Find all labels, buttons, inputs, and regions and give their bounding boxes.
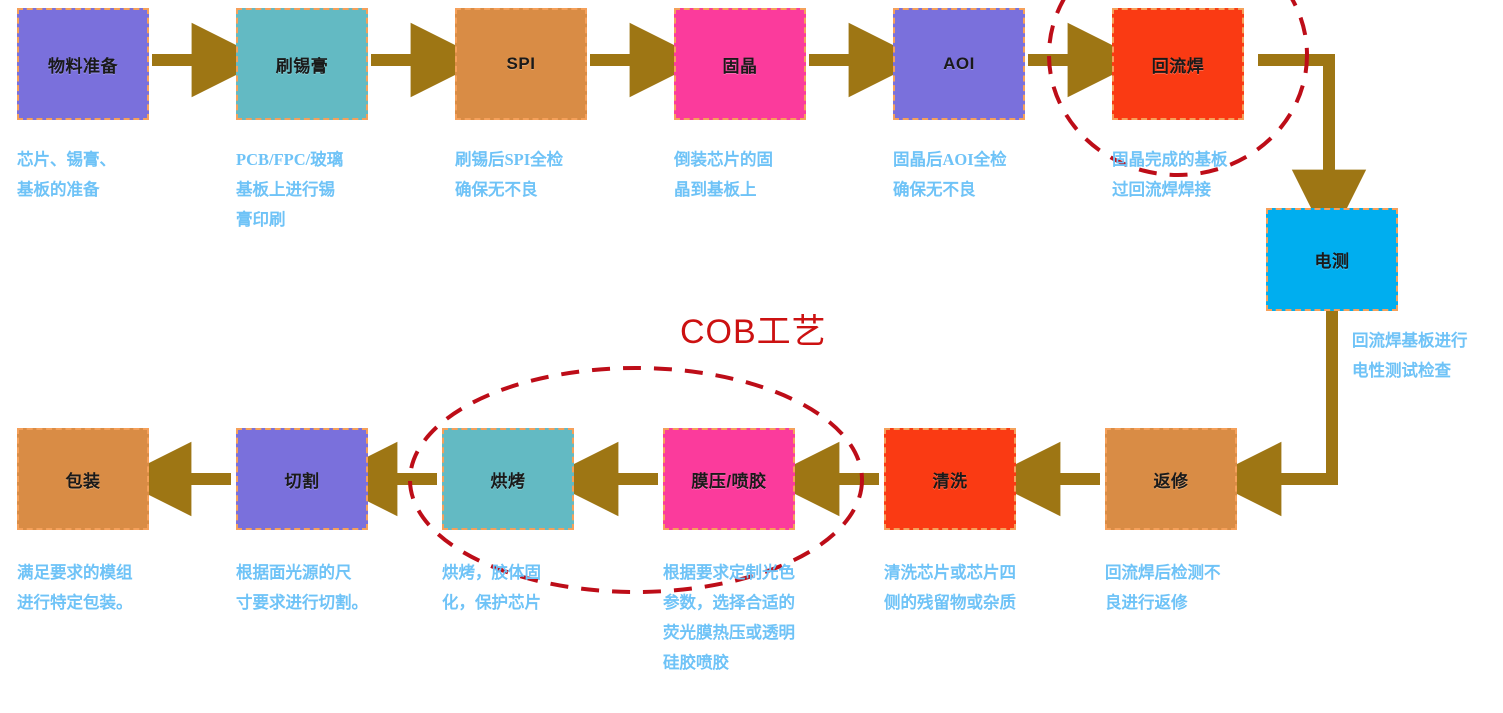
caption-bake: 烘烤，胶体固 化，保护芯片 bbox=[442, 558, 541, 618]
caption-die-bond: 倒装芯片的固 晶到基板上 bbox=[674, 145, 773, 205]
node-material[interactable]: 物料准备 bbox=[17, 8, 149, 120]
caption-aoi: 固晶后AOI全检 确保无不良 bbox=[893, 145, 1007, 205]
caption-package: 满足要求的模组 进行特定包装。 bbox=[17, 558, 133, 618]
node-rework-label: 返修 bbox=[1154, 467, 1189, 492]
node-package-label: 包装 bbox=[66, 467, 101, 492]
caption-reflow: 固晶完成的基板 过回流焊焊接 bbox=[1112, 145, 1228, 205]
caption-rework: 回流焊后检测不 良进行返修 bbox=[1105, 558, 1221, 618]
node-material-label: 物料准备 bbox=[48, 52, 118, 77]
caption-clean: 清洗芯片或芯片四 侧的残留物或杂质 bbox=[884, 558, 1016, 618]
node-aoi-label: AOI bbox=[943, 54, 975, 74]
node-die-bond-label: 固晶 bbox=[723, 52, 758, 77]
node-aoi[interactable]: AOI bbox=[893, 8, 1025, 120]
cob-process-flowchart: 物料准备 刷锡膏 SPI 固晶 AOI 回流焊 电测 返修 清洗 膜压/喷胶 烘… bbox=[0, 0, 1503, 713]
diagram-title: COB工艺 bbox=[680, 304, 827, 353]
node-spi-label: SPI bbox=[507, 54, 536, 74]
node-reflow-label: 回流焊 bbox=[1152, 52, 1205, 77]
node-cut-label: 切割 bbox=[285, 467, 320, 492]
node-electrical-test[interactable]: 电测 bbox=[1266, 208, 1398, 311]
node-spi[interactable]: SPI bbox=[455, 8, 587, 120]
arrow-etest-to-rework bbox=[1255, 311, 1332, 479]
caption-spi: 刷锡后SPI全检 确保无不良 bbox=[455, 145, 563, 205]
node-reflow[interactable]: 回流焊 bbox=[1112, 8, 1244, 120]
node-molding-dispensing[interactable]: 膜压/喷胶 bbox=[663, 428, 795, 530]
caption-material: 芯片、锡膏、 基板的准备 bbox=[17, 145, 116, 205]
node-solder-paste-printing[interactable]: 刷锡膏 bbox=[236, 8, 368, 120]
node-die-bond[interactable]: 固晶 bbox=[674, 8, 806, 120]
node-package[interactable]: 包装 bbox=[17, 428, 149, 530]
node-bake-label: 烘烤 bbox=[491, 467, 526, 492]
node-solder-paste-printing-label: 刷锡膏 bbox=[276, 52, 329, 77]
node-cut[interactable]: 切割 bbox=[236, 428, 368, 530]
node-molding-dispensing-label: 膜压/喷胶 bbox=[691, 467, 766, 492]
node-electrical-test-label: 电测 bbox=[1315, 247, 1350, 272]
node-rework[interactable]: 返修 bbox=[1105, 428, 1237, 530]
node-clean-label: 清洗 bbox=[933, 467, 968, 492]
arrow-reflow-to-etest bbox=[1258, 60, 1329, 196]
caption-cut: 根据面光源的尺 寸要求进行切割。 bbox=[236, 558, 368, 618]
caption-molding: 根据要求定制光色 参数，选择合适的 荧光膜热压或透明 硅胶喷胶 bbox=[663, 558, 795, 678]
node-bake[interactable]: 烘烤 bbox=[442, 428, 574, 530]
node-clean[interactable]: 清洗 bbox=[884, 428, 1016, 530]
caption-electrical-test: 回流焊基板进行 电性测试检查 bbox=[1352, 326, 1468, 386]
caption-solder: PCB/FPC/玻璃 基板上进行锡 膏印刷 bbox=[236, 145, 343, 235]
